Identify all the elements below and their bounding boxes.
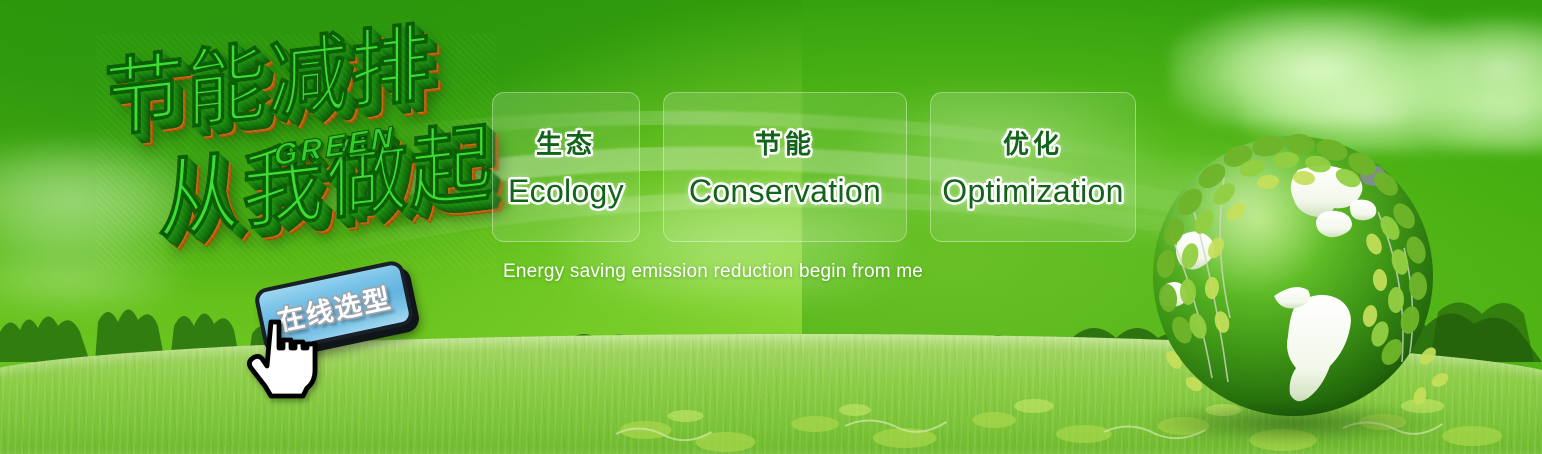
feature-card-cn-label: 生态 — [536, 124, 596, 161]
feature-card-en-label: Optimization — [942, 173, 1123, 210]
banner-subtitle: Energy saving emission reduction begin f… — [503, 261, 923, 283]
hand-pointer-icon — [237, 316, 321, 400]
feature-card-cn-label: 优化 — [1003, 124, 1063, 161]
feature-card-optimization[interactable]: 优化 Optimization — [930, 92, 1136, 242]
feature-card-en-label: Conservation — [689, 173, 881, 210]
globe-icon — [1128, 108, 1458, 438]
globe-shadow — [1144, 402, 1444, 444]
feature-card-cn-label: 节能 — [755, 124, 815, 161]
leafy-globe-illustration — [1128, 108, 1458, 438]
feature-card-conservation[interactable]: 节能 Conservation — [663, 92, 907, 242]
hero-title-artwork: 节能减排 GREEN 从我做起 — [96, 34, 496, 269]
feature-card-list: 生态 Ecology 节能 Conservation 优化 Optimizati… — [492, 92, 1136, 242]
feature-card-en-label: Ecology — [508, 173, 624, 210]
eco-hero-banner: 节能减排 GREEN 从我做起 在线选型 生态 Ecology 节能 Conse… — [0, 0, 1542, 454]
feature-card-ecology[interactable]: 生态 Ecology — [492, 92, 640, 242]
